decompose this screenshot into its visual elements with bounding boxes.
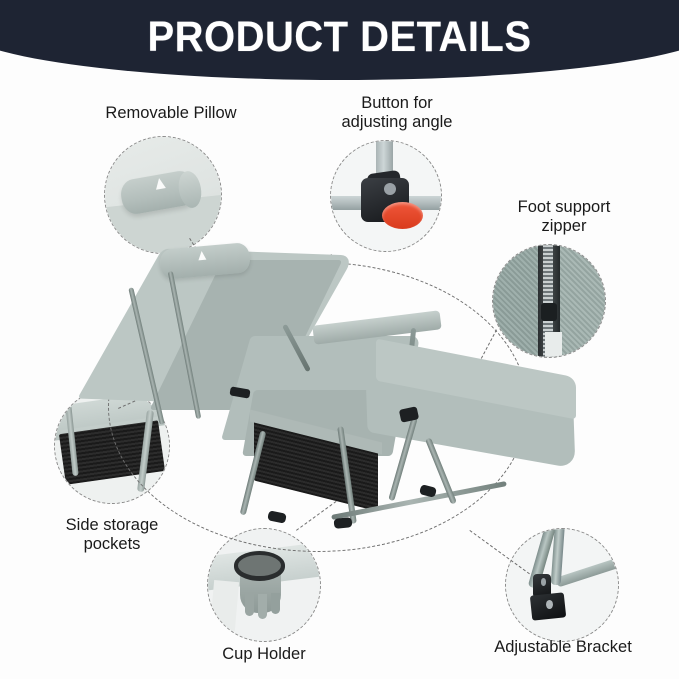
chair-pillow-logo-icon <box>198 251 207 261</box>
callout-label-cup-holder: Cup Holder <box>184 645 344 664</box>
callout-circle-adjustable-bracket <box>505 528 619 642</box>
bracket-icon <box>506 529 618 641</box>
callout-label-foot-support-zipper: Foot support zipper <box>478 198 650 236</box>
product-details-infographic: PRODUCT DETAILS <box>0 0 679 679</box>
callout-label-removable-pillow: Removable Pillow <box>62 104 280 123</box>
callout-label-adjustable-bracket: Adjustable Bracket <box>470 638 656 657</box>
page-title: PRODUCT DETAILS <box>24 13 655 62</box>
chair-foot-front-right <box>334 517 353 529</box>
chair-foot-rear <box>419 484 437 498</box>
pillow-icon <box>105 137 221 253</box>
angle-button-icon <box>331 141 441 251</box>
callout-circle-angle-button <box>330 140 442 252</box>
callout-circle-removable-pillow <box>104 136 222 254</box>
callout-label-angle-button: Button for adjusting angle <box>308 94 486 132</box>
product-image-camp-chair <box>108 240 588 530</box>
chair-foot-front-left <box>267 510 287 524</box>
